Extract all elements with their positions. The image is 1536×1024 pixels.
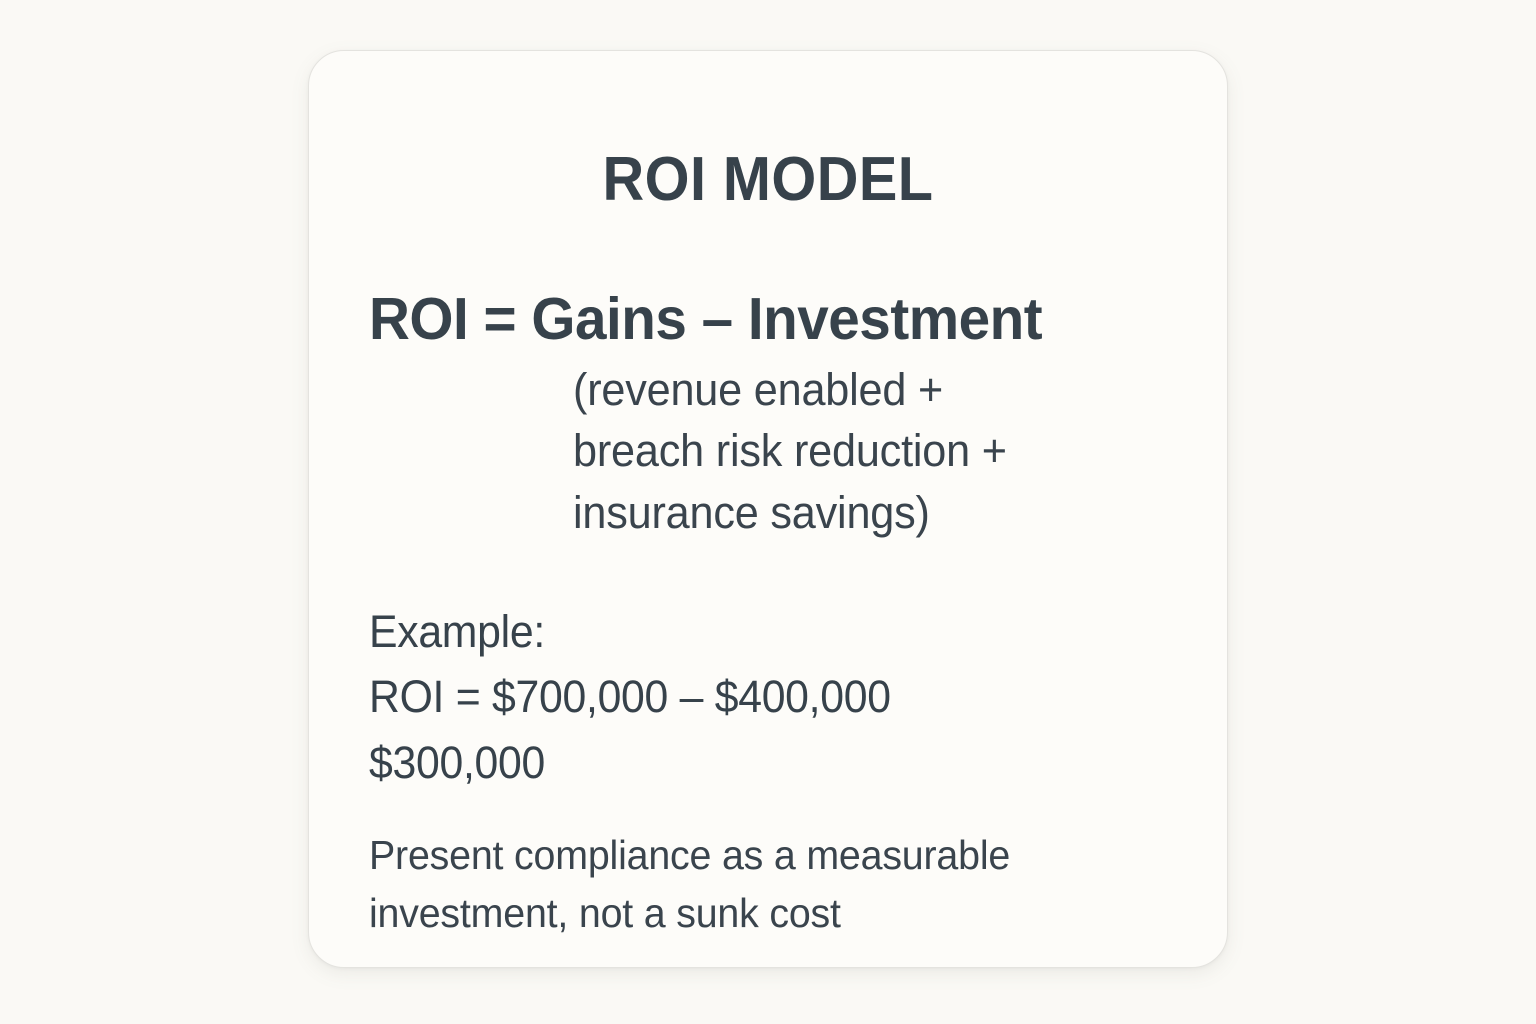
example-calculation-line: ROI = $700,000 – $400,000 <box>369 664 1148 729</box>
footer-note-line-1: Present compliance as a measurable <box>369 826 1166 884</box>
formula-detail-line-2: breach risk reduction + <box>573 420 1164 481</box>
slide-canvas: ROI MODEL ROI = Gains – Investment (reve… <box>0 0 1536 1024</box>
formula-main-equation: ROI = Gains – Investment <box>369 289 1156 349</box>
card-title: ROI MODEL <box>341 149 1195 211</box>
formula-block: ROI = Gains – Investment (revenue enable… <box>369 289 1189 543</box>
formula-detail-group: (revenue enabled + breach risk reduction… <box>573 359 1164 543</box>
formula-detail-line-1: (revenue enabled + <box>573 359 1164 420</box>
example-label: Example: <box>369 599 1148 664</box>
footer-note: Present compliance as a measurable inves… <box>369 826 1166 942</box>
example-result-line: $300,000 <box>369 730 1148 795</box>
formula-detail-line-3: insurance savings) <box>573 482 1164 543</box>
card-content: ROI MODEL ROI = Gains – Investment (reve… <box>309 51 1227 967</box>
example-block: Example: ROI = $700,000 – $400,000 $300,… <box>369 599 1189 795</box>
roi-model-card: ROI MODEL ROI = Gains – Investment (reve… <box>308 50 1228 968</box>
footer-note-line-2: investment, not a sunk cost <box>369 884 1166 942</box>
